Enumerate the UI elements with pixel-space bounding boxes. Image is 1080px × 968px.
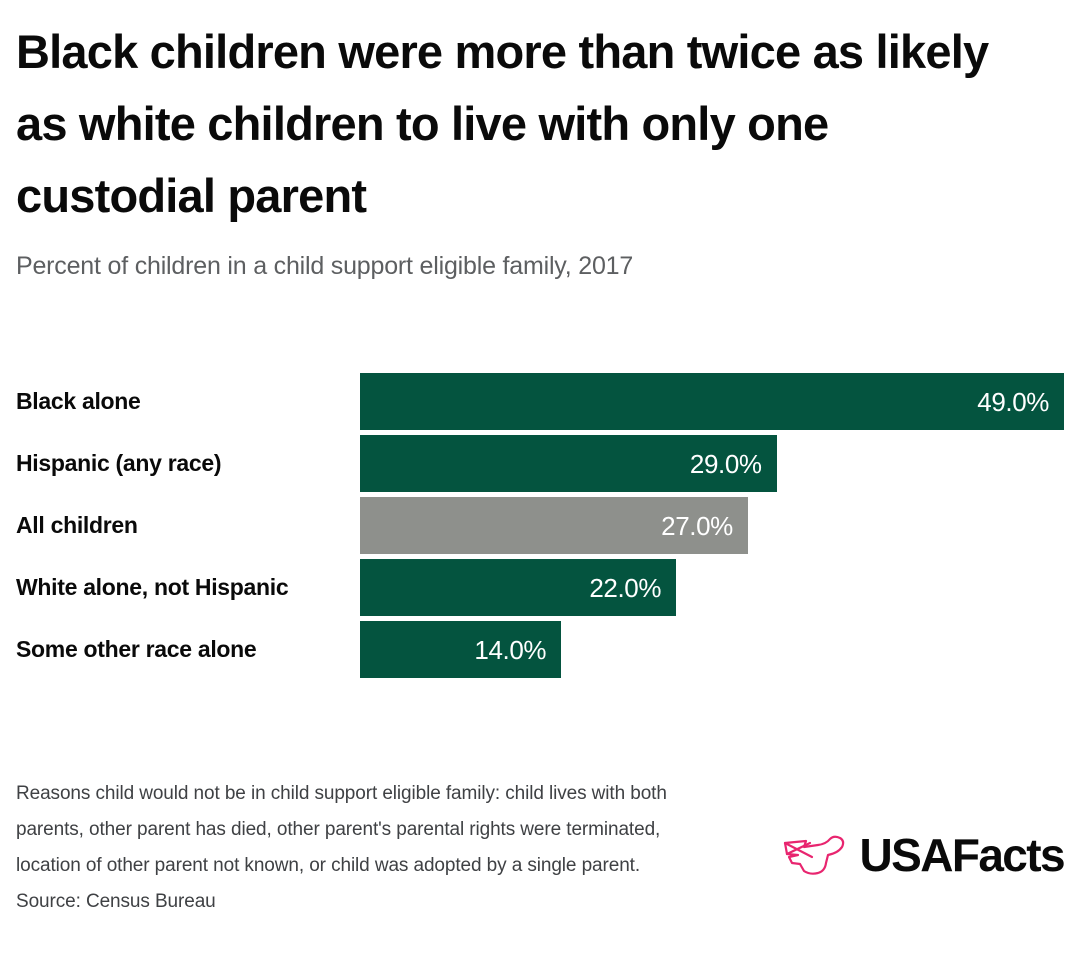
bar-row: Some other race alone 14.0%: [0, 621, 1080, 678]
bar-value-label: 27.0%: [661, 513, 733, 539]
bar-value-label: 49.0%: [977, 389, 1049, 415]
bar-row: Hispanic (any race) 29.0%: [0, 435, 1080, 492]
bar-fill: 49.0%: [360, 373, 1064, 430]
chart-header: Black children were more than twice as l…: [16, 16, 1056, 282]
chart-subtitle: Percent of children in a child support e…: [16, 250, 1056, 282]
bar-category-label: All children: [16, 497, 138, 554]
logo-wordmark: USAFacts: [860, 832, 1065, 878]
usa-map-outline-icon: [782, 833, 848, 877]
chart-page: Black children were more than twice as l…: [0, 0, 1080, 968]
usafacts-logo: USAFacts: [782, 832, 1065, 878]
footnote-text: Reasons child would not be in child supp…: [16, 776, 716, 884]
bar-category-label: Black alone: [16, 373, 141, 430]
bar-fill: 22.0%: [360, 559, 676, 616]
bar-category-label: White alone, not Hispanic: [16, 559, 288, 616]
bar-fill: 27.0%: [360, 497, 748, 554]
bar-value-label: 14.0%: [474, 637, 546, 663]
bar-row: All children 27.0%: [0, 497, 1080, 554]
bar-track: 27.0%: [360, 497, 1064, 554]
bar-category-label: Some other race alone: [16, 621, 256, 678]
bar-track: 22.0%: [360, 559, 1064, 616]
bar-track: 29.0%: [360, 435, 1064, 492]
source-text: Source: Census Bureau: [16, 884, 1064, 920]
bar-track: 49.0%: [360, 373, 1064, 430]
page-title: Black children were more than twice as l…: [16, 16, 1026, 232]
bar-track: 14.0%: [360, 621, 1064, 678]
bar-value-label: 29.0%: [690, 451, 762, 477]
bar-fill: 29.0%: [360, 435, 777, 492]
bar-row: Black alone 49.0%: [0, 373, 1080, 430]
bar-fill: 14.0%: [360, 621, 561, 678]
bar-category-label: Hispanic (any race): [16, 435, 221, 492]
bar-value-label: 22.0%: [589, 575, 661, 601]
bar-row: White alone, not Hispanic 22.0%: [0, 559, 1080, 616]
bar-chart: Black alone 49.0% Hispanic (any race) 29…: [0, 373, 1080, 683]
